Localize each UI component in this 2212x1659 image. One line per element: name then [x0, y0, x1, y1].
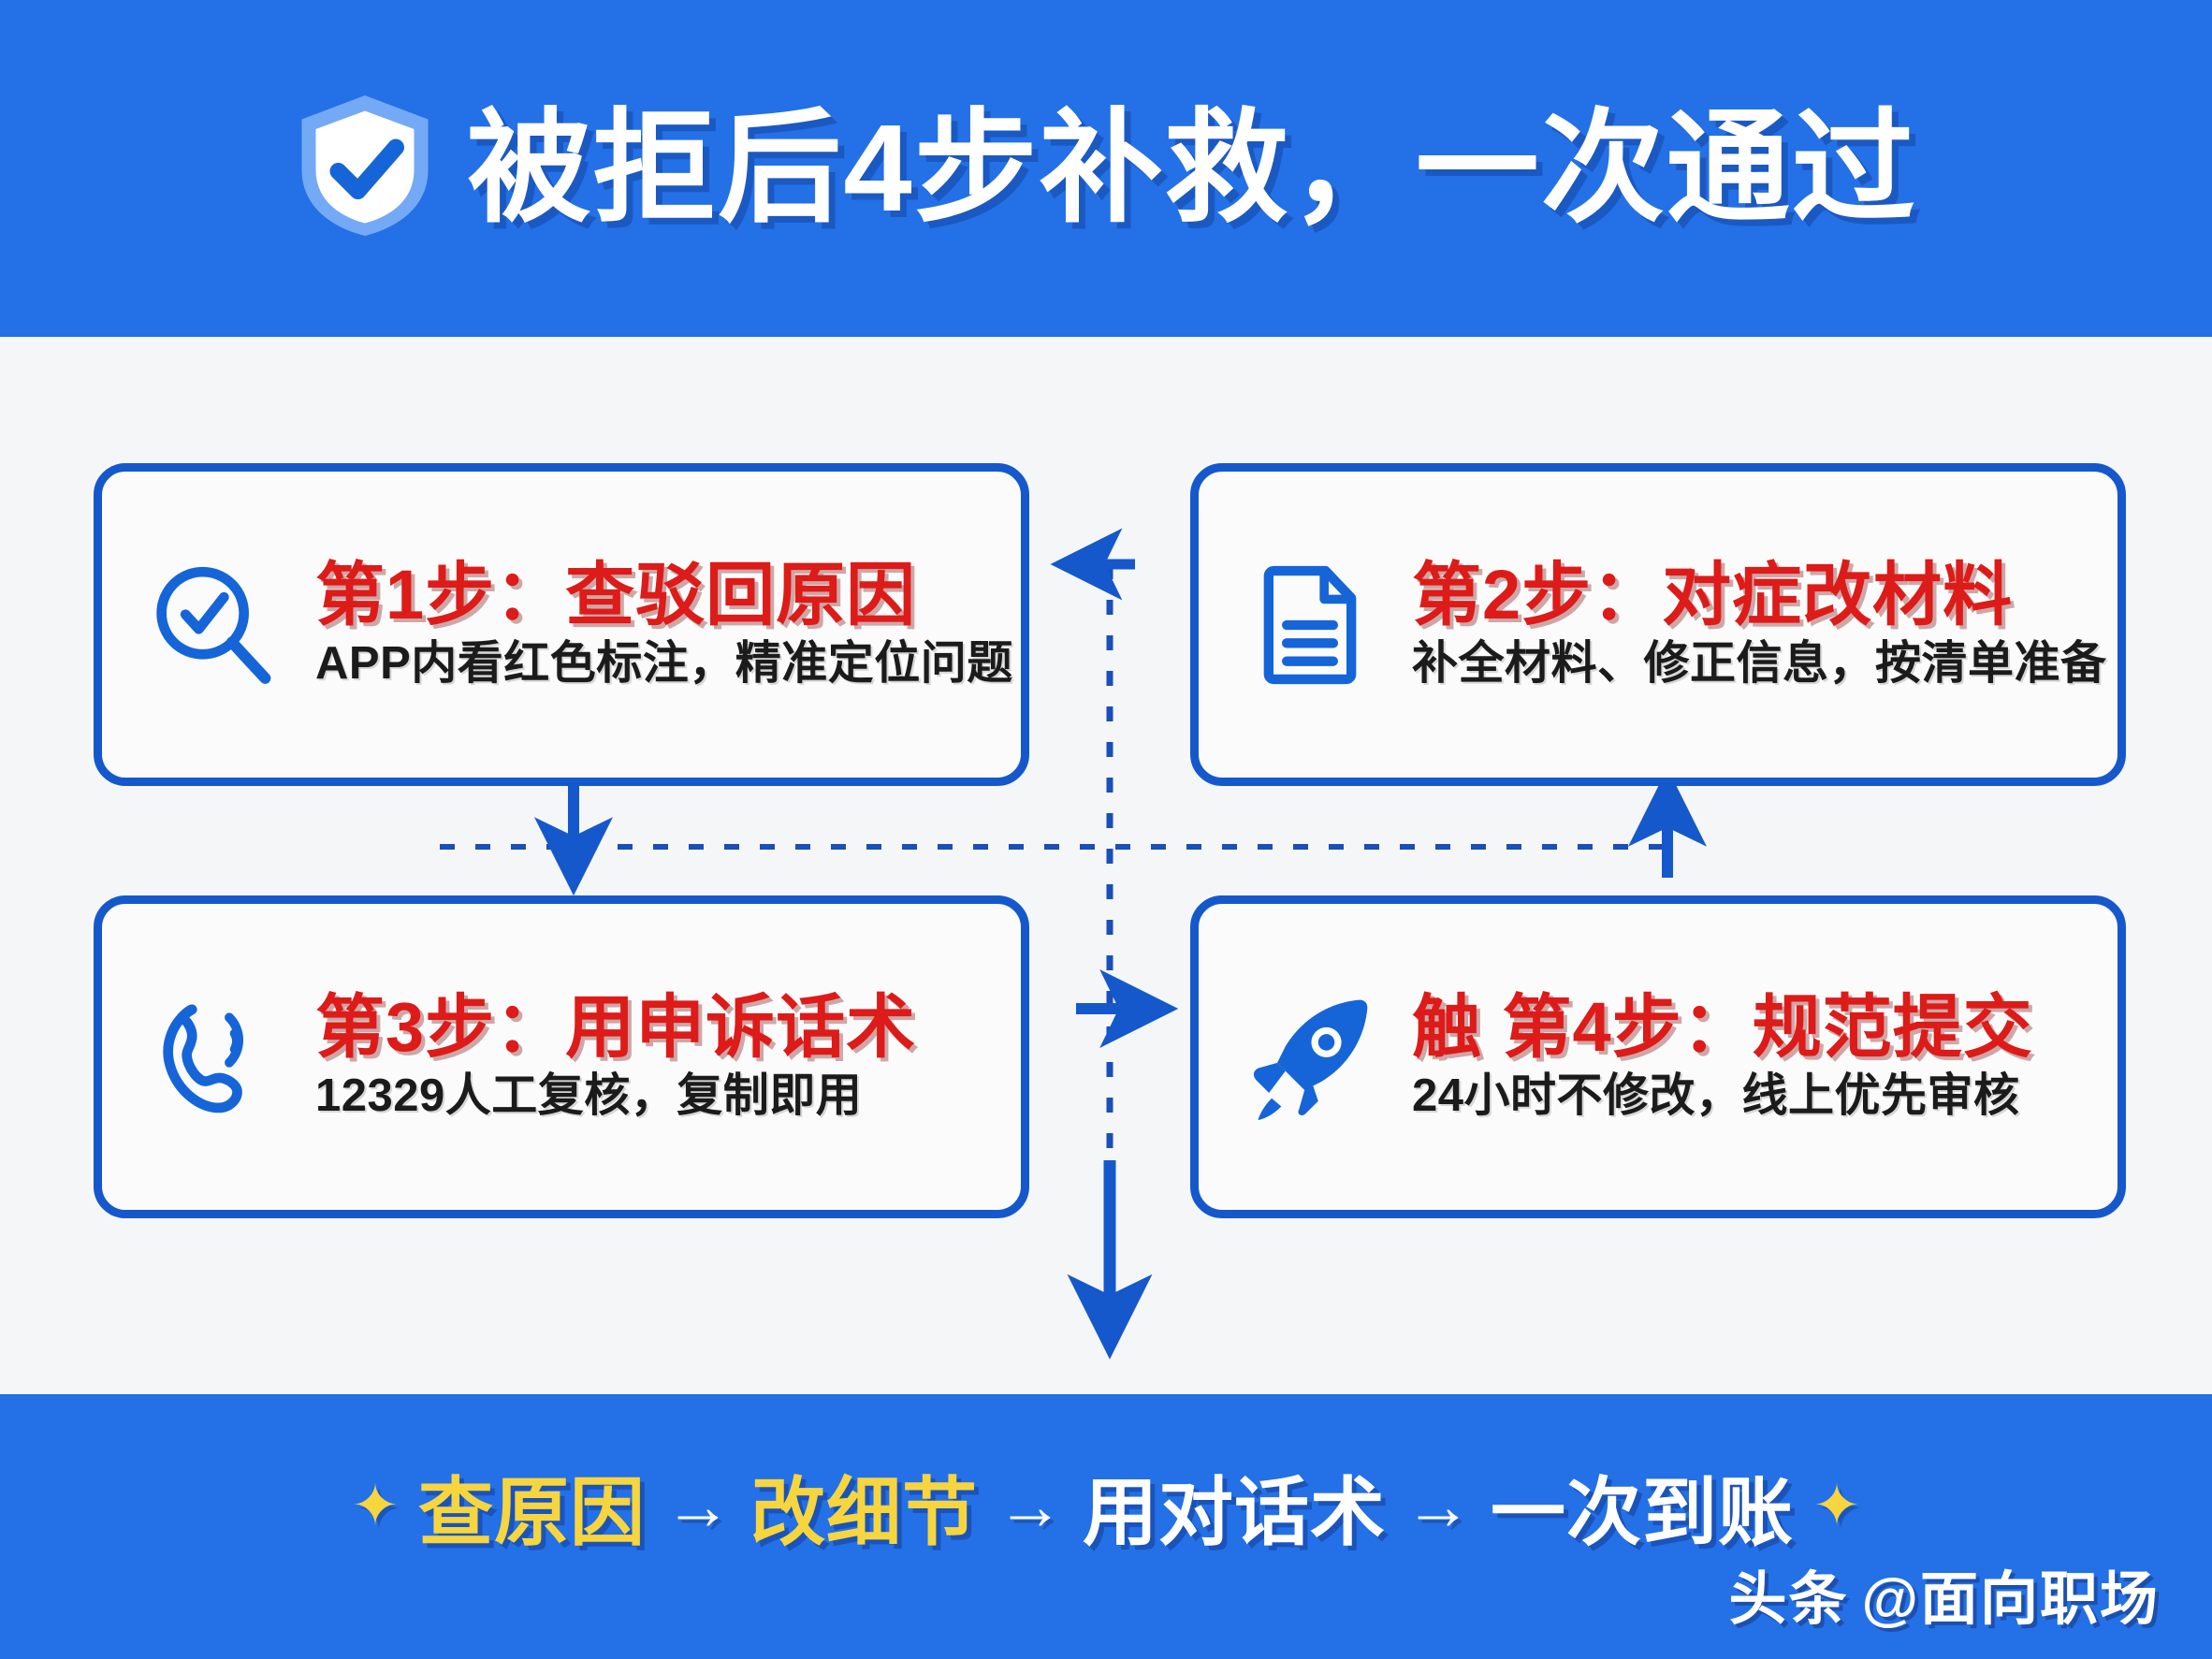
footer-step-3: 用对话术 — [1083, 1452, 1386, 1561]
page-title: 被拒后4步补救，一次通过 — [467, 107, 1916, 230]
footer-arrow-3-icon: → — [1404, 1468, 1472, 1545]
step-card-1-subtitle: APP内看红色标注，精准定位问题 — [315, 637, 983, 690]
step-card-3-text: 第3步：用申诉话术 12329人工复核，复制即用 — [315, 991, 916, 1122]
step-card-2-subtitle: 补全材料、修正信息，按清单准备 — [1412, 637, 2080, 690]
rocket-icon — [1240, 987, 1380, 1128]
document-lines-icon — [1240, 555, 1380, 695]
step-card-3-subtitle: 12329人工复核，复制即用 — [315, 1070, 916, 1122]
header-banner: 被拒后4步补救，一次通过 — [0, 0, 2212, 337]
footer-step-2: 改细节 — [750, 1452, 978, 1561]
step-card-1[interactable]: 第1步：查驳回原因 APP内看红色标注，精准定位问题 — [94, 463, 1029, 786]
step-card-4-title: 触 第4步：规范提交 — [1412, 991, 2033, 1064]
sparkle-right-icon: ✦ — [1812, 1477, 1861, 1535]
step-card-2[interactable]: 第2步：对症改材料 补全材料、修正信息，按清单准备 — [1190, 463, 2126, 786]
step-card-4-text: 触 第4步：规范提交 24小时不修改，线上优先审核 — [1412, 991, 2033, 1122]
step-card-3-title: 第3步：用申诉话术 — [315, 991, 916, 1064]
step-card-4-subtitle: 24小时不修改，线上优先审核 — [1412, 1070, 2033, 1122]
step-card-2-text: 第2步：对症改材料 补全材料、修正信息，按清单准备 — [1412, 559, 2080, 690]
watermark-handle: @面向职场 — [1862, 1551, 2160, 1636]
phone-call-icon — [143, 987, 284, 1128]
shield-check-icon — [295, 91, 435, 240]
footer-arrow-1-icon: → — [664, 1468, 732, 1545]
watermark-platform: 头条 — [1729, 1551, 1849, 1636]
steps-board: 第1步：查驳回原因 APP内看红色标注，精准定位问题 第2步：对症改材料 补全材… — [0, 337, 2212, 1394]
footer-step-1: 查原因 — [418, 1452, 646, 1561]
magnifier-check-icon — [143, 555, 284, 695]
footer-arrow-2-icon: → — [997, 1468, 1064, 1545]
sparkle-left-icon: ✦ — [351, 1477, 400, 1535]
footer-step-4: 一次到账 — [1491, 1452, 1794, 1561]
step-card-4[interactable]: 触 第4步：规范提交 24小时不修改，线上优先审核 — [1190, 895, 2126, 1218]
step-card-3[interactable]: 第3步：用申诉话术 12329人工复核，复制即用 — [94, 895, 1029, 1218]
step-card-1-title: 第1步：查驳回原因 — [315, 559, 983, 632]
footer-banner: ✦ 查原因 → 改细节 → 用对话术 → 一次到账 ✦ 头条 @面向职场 — [0, 1394, 2212, 1659]
infographic-poster: 被拒后4步补救，一次通过 — [0, 0, 2212, 1659]
step-card-2-title: 第2步：对症改材料 — [1412, 559, 2080, 632]
footer-summary-line: ✦ 查原因 → 改细节 → 用对话术 → 一次到账 ✦ — [0, 1452, 2212, 1561]
watermark: 头条 @面向职场 — [1729, 1551, 2160, 1636]
step-card-1-text: 第1步：查驳回原因 APP内看红色标注，精准定位问题 — [315, 559, 983, 690]
